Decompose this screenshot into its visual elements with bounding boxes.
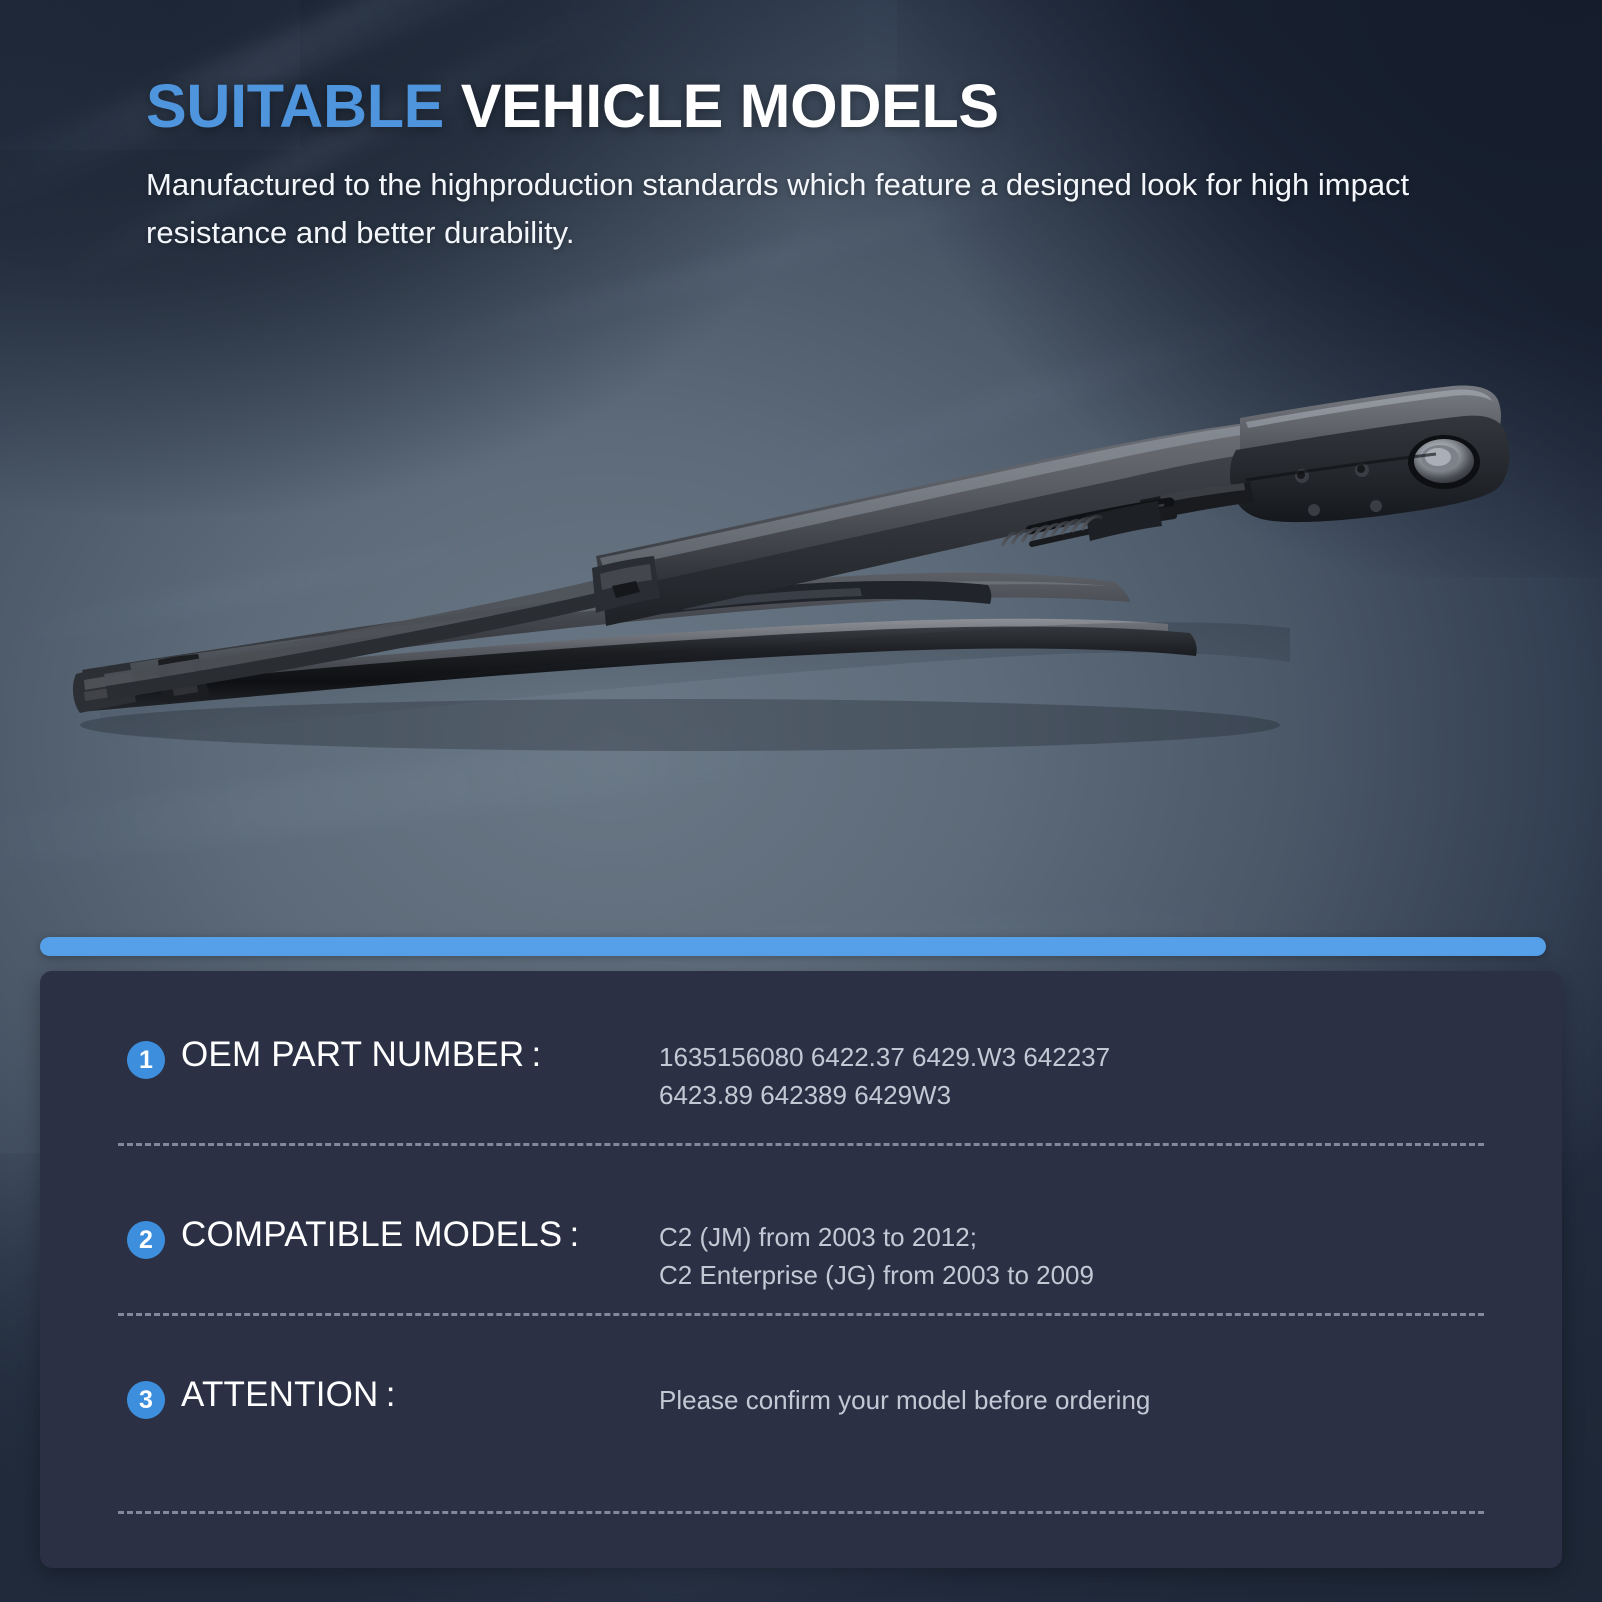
spec-label-compatible-models: COMPATIBLE MODELS : — [181, 1213, 651, 1257]
spec-value-compatible-models: C2 (JM) from 2003 to 2012; C2 Enterprise… — [659, 1213, 1562, 1294]
spec-panel: 1 OEM PART NUMBER : 1635156080 6422.37 6… — [40, 971, 1562, 1568]
spec-label-oem-part-number: OEM PART NUMBER : — [181, 1033, 651, 1077]
accent-bar — [40, 937, 1546, 956]
spec-row-attention: 3 ATTENTION : Please confirm your model … — [40, 1373, 1562, 1419]
spec-divider — [118, 1143, 1484, 1146]
page-title-highlight: SUITABLE — [146, 72, 444, 140]
header: SUITABLE VEHICLE MODELS Manufactured to … — [146, 74, 1486, 257]
spec-value-attention: Please confirm your model before orderin… — [659, 1373, 1562, 1419]
page-title-rest: VEHICLE MODELS — [461, 72, 999, 140]
spec-row-oem-part-number: 1 OEM PART NUMBER : 1635156080 6422.37 6… — [40, 1033, 1562, 1114]
page-subtitle: Manufactured to the highproduction stand… — [146, 161, 1436, 257]
spec-divider — [118, 1313, 1484, 1316]
spec-value-oem-part-number: 1635156080 6422.37 6429.W3 642237 6423.8… — [659, 1033, 1562, 1114]
spec-row-compatible-models: 2 COMPATIBLE MODELS : C2 (JM) from 2003 … — [40, 1213, 1562, 1294]
spec-number-badge-1: 1 — [127, 1041, 165, 1079]
page-title: SUITABLE VEHICLE MODELS — [146, 74, 1486, 140]
spec-number-badge-2: 2 — [127, 1221, 165, 1259]
product-image-wiper-arm — [40, 330, 1540, 850]
spec-number-badge-3: 3 — [127, 1381, 165, 1419]
spec-divider — [118, 1511, 1484, 1514]
spec-label-attention: ATTENTION : — [181, 1373, 651, 1417]
